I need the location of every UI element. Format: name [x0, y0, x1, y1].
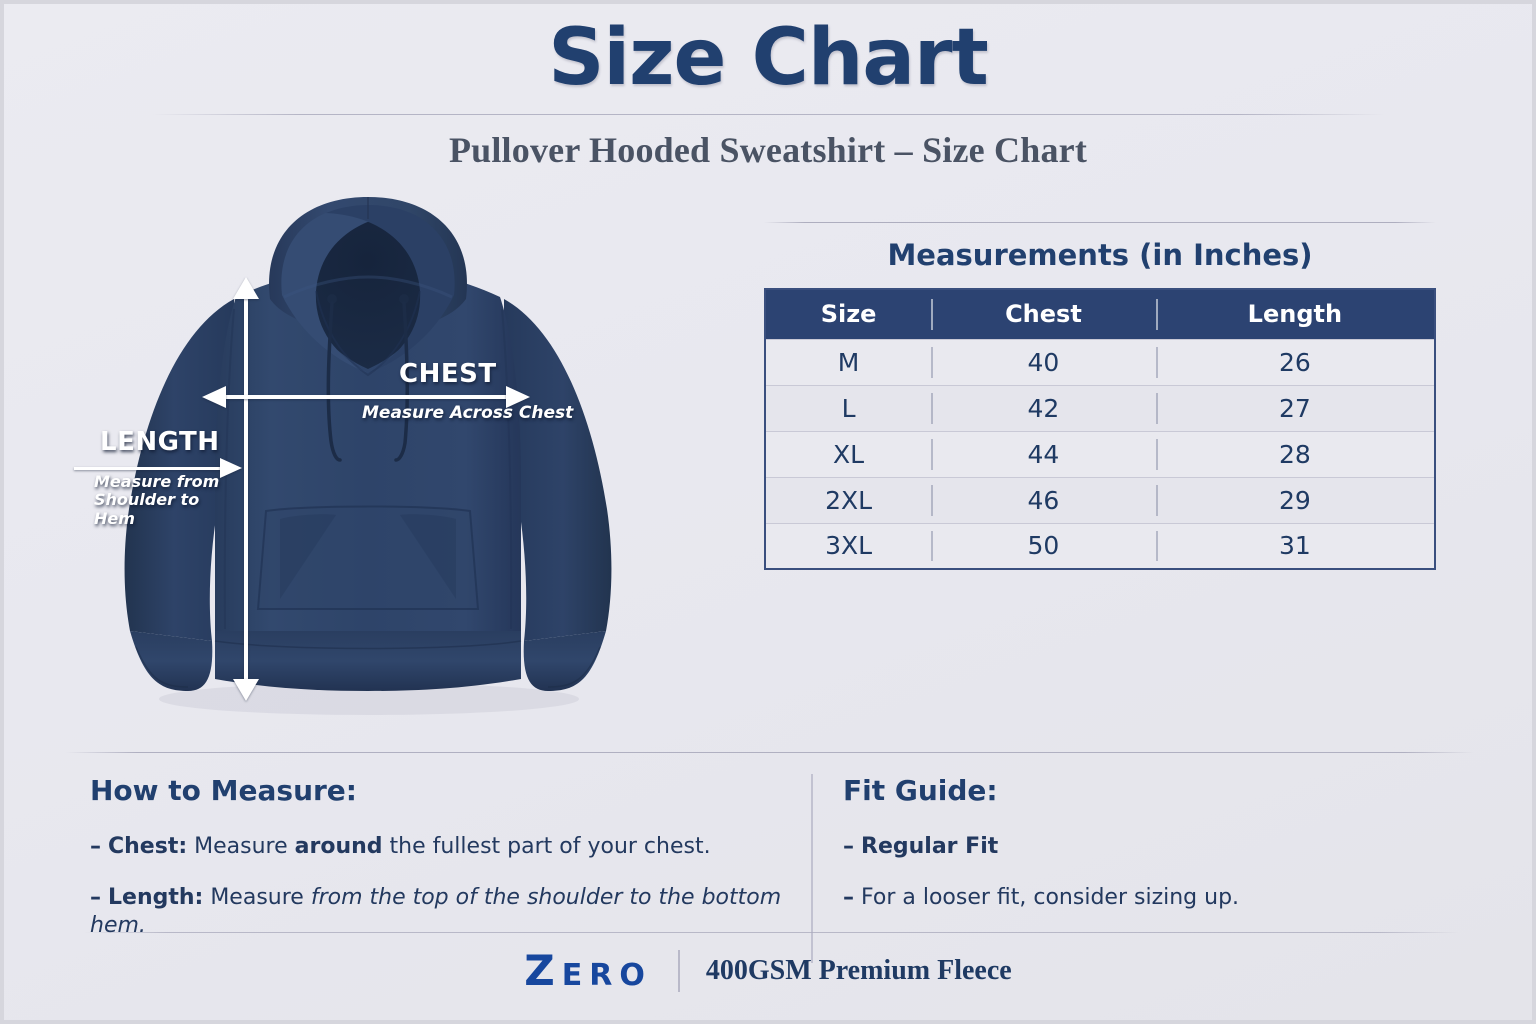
size-table-head: Size Chest Length — [765, 289, 1435, 339]
size-table: Size Chest Length M 40 26 L 42 27 XL — [764, 288, 1436, 570]
length-annotation-label: LENGTH — [100, 427, 219, 457]
fit-guide-title: Fit Guide: — [843, 774, 1411, 807]
list-dash: – — [90, 885, 101, 910]
how-to-measure-column: How to Measure: – Chest: Measure around … — [66, 774, 811, 963]
column-header-size: Size — [765, 289, 931, 339]
footer-separator — [678, 950, 680, 992]
list-dash: – — [843, 885, 854, 910]
cell-size: M — [765, 339, 931, 385]
table-row: M 40 26 — [765, 339, 1435, 385]
cell-length: 26 — [1156, 339, 1435, 385]
table-top-divider — [764, 222, 1436, 223]
cell-chest: 40 — [931, 339, 1156, 385]
table-row: XL 44 28 — [765, 431, 1435, 477]
brand-initial: Z — [524, 946, 561, 995]
page-title: Size Chart — [4, 18, 1532, 100]
notes-divider — [66, 752, 1474, 753]
length-measure-line — [244, 291, 248, 686]
chest-arrow-left-icon — [202, 386, 226, 408]
table-row: 3XL 50 31 — [765, 523, 1435, 569]
notes-section: How to Measure: – Chest: Measure around … — [66, 774, 1474, 963]
list-dash: – — [843, 834, 854, 859]
chest-measure-line — [222, 395, 512, 399]
column-header-chest: Chest — [931, 289, 1156, 339]
note-text-before: Measure — [187, 834, 295, 859]
fit-guide-column: Fit Guide: – Regular Fit – For a looser … — [811, 774, 1411, 963]
note-text-after: the fullest part of your chest. — [383, 834, 711, 859]
footer-divider — [84, 932, 1460, 933]
page-subtitle: Pullover Hooded Sweatshirt – Size Chart — [4, 129, 1532, 171]
cell-chest: 44 — [931, 431, 1156, 477]
length-arrow-up-icon — [233, 277, 259, 299]
cell-size: 2XL — [765, 477, 931, 523]
brand-rest: ERO — [562, 958, 652, 993]
cell-chest: 46 — [931, 477, 1156, 523]
note-key-length: Length: — [108, 885, 203, 910]
how-to-measure-item-chest: – Chest: Measure around the fullest part… — [90, 833, 811, 862]
note-emphasis: around — [295, 834, 383, 859]
fit-guide-text: For a looser fit, consider sizing up. — [861, 885, 1239, 910]
header: Size Chart Pullover Hooded Sweatshirt – … — [4, 18, 1532, 171]
table-heading: Measurements (in Inches) — [764, 238, 1436, 272]
cell-length: 28 — [1156, 431, 1435, 477]
size-chart-page: Size Chart Pullover Hooded Sweatshirt – … — [0, 0, 1536, 1024]
cell-length: 29 — [1156, 477, 1435, 523]
fit-guide-text: Regular Fit — [861, 834, 998, 859]
footer-tagline: 400GSM Premium Fleece — [706, 955, 1012, 987]
chest-annotation-note: Measure Across Chest — [362, 403, 573, 423]
title-divider — [151, 114, 1386, 115]
cell-length: 27 — [1156, 385, 1435, 431]
size-table-body: M 40 26 L 42 27 XL 44 28 2XL 46 29 — [765, 339, 1435, 569]
fit-guide-item-sizing: – For a looser fit, consider sizing up. — [843, 884, 1411, 913]
length-arrow-down-icon — [233, 679, 259, 701]
fit-guide-item-regular: – Regular Fit — [843, 833, 1411, 862]
brand-logo: ZERO — [524, 950, 652, 992]
cell-size: XL — [765, 431, 931, 477]
table-row: L 42 27 — [765, 385, 1435, 431]
garment-panel: CHEST Measure Across Chest LENGTH Measur… — [44, 179, 744, 739]
cell-size: L — [765, 385, 931, 431]
note-key-chest: Chest: — [108, 834, 187, 859]
footer: ZERO 400GSM Premium Fleece — [4, 950, 1532, 992]
note-text-before: Measure — [203, 885, 311, 910]
how-to-measure-title: How to Measure: — [90, 774, 811, 807]
length-annotation-note: Measure from Shoulder to Hem — [94, 473, 244, 528]
table-header-row: Size Chest Length — [765, 289, 1435, 339]
length-pointer-line — [74, 467, 224, 470]
column-header-length: Length — [1156, 289, 1435, 339]
measurements-panel: Measurements (in Inches) Size Chest Leng… — [764, 222, 1436, 570]
list-dash: – — [90, 834, 101, 859]
table-row: 2XL 46 29 — [765, 477, 1435, 523]
cell-length: 31 — [1156, 523, 1435, 569]
cell-chest: 50 — [931, 523, 1156, 569]
chest-annotation-label: CHEST — [399, 359, 497, 389]
cell-chest: 42 — [931, 385, 1156, 431]
cell-size: 3XL — [765, 523, 931, 569]
